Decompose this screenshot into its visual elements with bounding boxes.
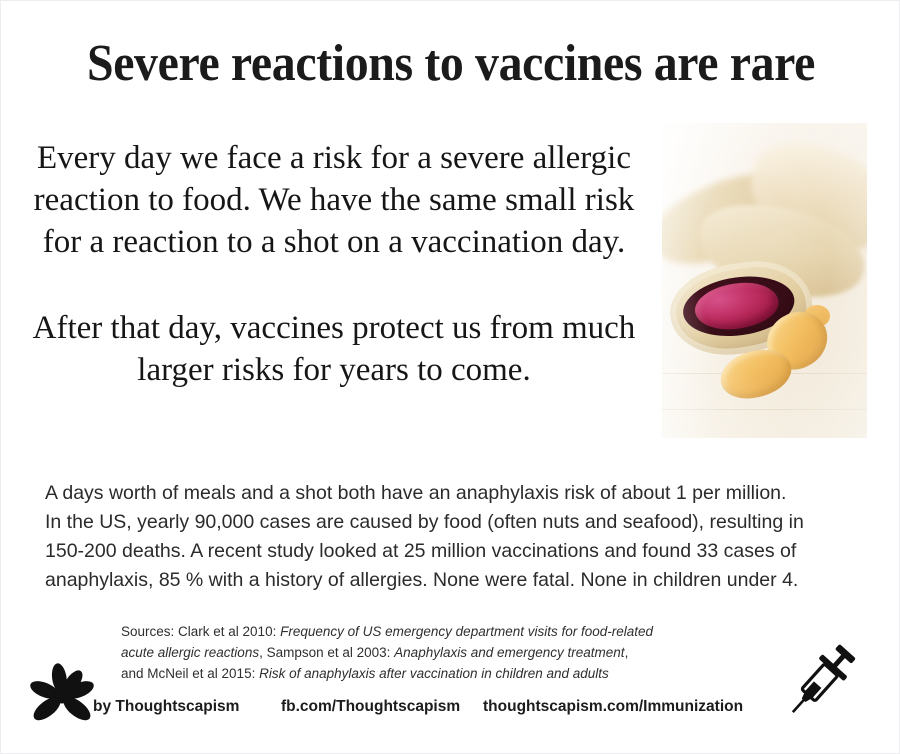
lead-paragraph-2: After that day, vaccines protect us from… (19, 307, 649, 391)
website-link[interactable]: thoughtscapism.com/Immunization (483, 698, 743, 716)
sources-line-3: and McNeil et al 2015: Risk of anaphylax… (121, 663, 761, 684)
page-title: Severe reactions to vaccines are rare (37, 35, 865, 93)
sources-title-2: Anaphylaxis and emergency treatment (394, 645, 624, 660)
syringe-icon (766, 639, 876, 723)
infographic-poster: Severe reactions to vaccines are rare Ev… (0, 0, 900, 754)
body-line: In the US, yearly 90,000 cases are cause… (45, 508, 861, 537)
sources-line-1: Sources: Clark et al 2010: Frequency of … (121, 621, 761, 642)
lead-text-column: Every day we face a risk for a severe al… (19, 137, 649, 391)
photo-vignette (662, 123, 867, 438)
byline-text: by Thoughtscapism (93, 698, 239, 716)
lead-paragraph-1: Every day we face a risk for a severe al… (19, 137, 649, 263)
sources-prefix: Sources: Clark et al 2010: (121, 624, 280, 639)
sources-title-3: Risk of anaphylaxis after vaccination in… (259, 666, 609, 681)
sources-mid: , Sampson et al 2003: (259, 645, 394, 660)
peanuts-photo (662, 123, 867, 438)
sources-block: Sources: Clark et al 2010: Frequency of … (121, 621, 761, 684)
body-line: 150-200 deaths. A recent study looked at… (45, 537, 861, 566)
body-line: A days worth of meals and a shot both ha… (45, 479, 861, 508)
sources-title-1-cont: acute allergic reactions (121, 645, 259, 660)
footer-links: by Thoughtscapism fb.com/Thoughtscapism … (93, 698, 773, 720)
sources-title-1: Frequency of US emergency department vis… (280, 624, 653, 639)
body-paragraph: A days worth of meals and a shot both ha… (45, 479, 861, 595)
facebook-link[interactable]: fb.com/Thoughtscapism (281, 698, 460, 716)
flower-logo (27, 663, 97, 731)
body-line: anaphylaxis, 85 % with a history of alle… (45, 566, 861, 595)
sources-line-2: acute allergic reactions, Sampson et al … (121, 642, 761, 663)
sources-suffix: , (625, 645, 629, 660)
sources-prefix-3: and McNeil et al 2015: (121, 666, 259, 681)
